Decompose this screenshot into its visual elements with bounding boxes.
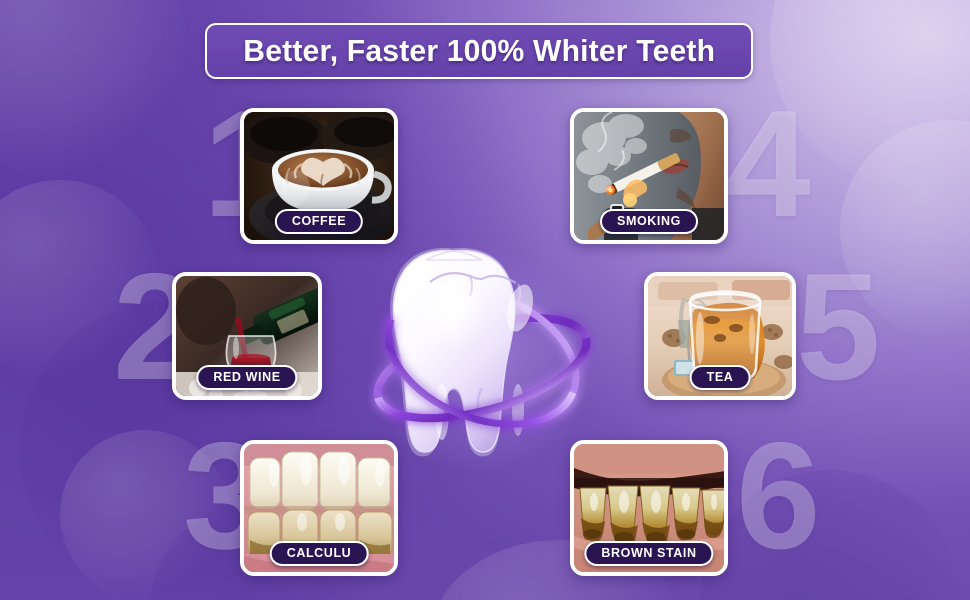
molar-tooth-with-orbit-rings [368,236,596,476]
card-numeral-6: 6 [736,437,821,556]
card-label-smoking: SMOKING [600,209,698,234]
card-label-red-wine: RED WINE [196,365,297,390]
cause-card-tea[interactable]: TEA [644,272,796,400]
card-label-coffee: COFFEE [275,209,363,234]
cause-card-coffee[interactable]: COFFEE [240,108,398,244]
cause-card-red-wine[interactable]: RED WINE [172,272,322,400]
page-title-banner: Better, Faster 100% Whiter Teeth [205,23,753,79]
card-label-calculu: CALCULU [270,541,369,566]
infographic-canvas: Better, Faster 100% Whiter Teeth 1 2 3 4… [0,0,970,600]
card-numeral-5: 5 [796,268,881,387]
card-numeral-4: 4 [726,105,811,224]
page-title: Better, Faster 100% Whiter Teeth [243,33,715,69]
card-label-tea: TEA [690,365,751,390]
center-tooth-graphic [368,236,596,476]
card-label-brown-stain: BROWN STAIN [584,541,713,566]
cause-card-smoking[interactable]: SMOKING [570,108,728,244]
